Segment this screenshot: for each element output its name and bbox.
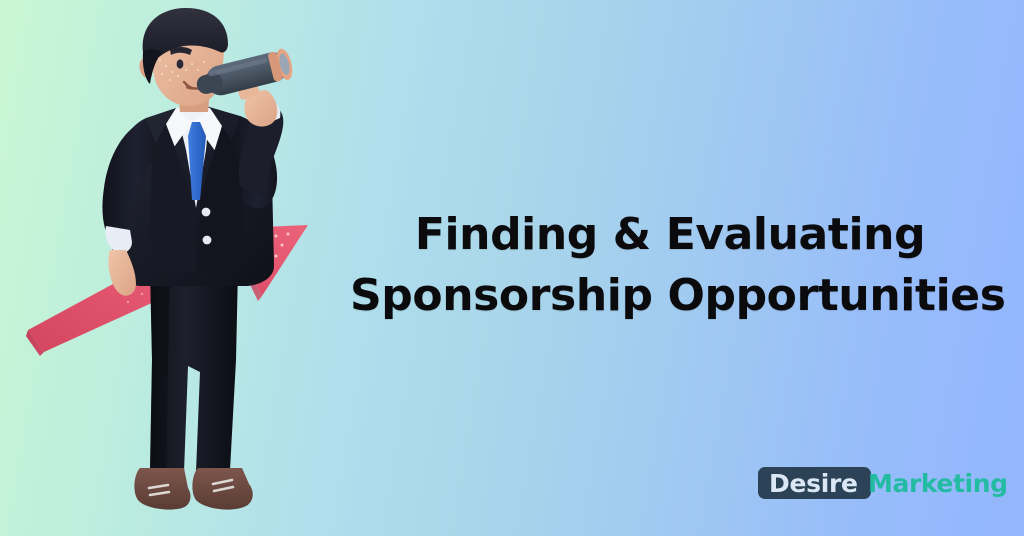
character-shoes	[134, 468, 252, 510]
illustration-businessman-telescope	[0, 0, 360, 536]
character-legs	[150, 268, 238, 472]
logo-badge-text: Desire	[769, 471, 858, 496]
headline-line-1: Finding & Evaluating	[350, 205, 990, 266]
brand-logo[interactable]: Desire Marketing	[758, 452, 998, 508]
slide-canvas: Finding & Evaluating Sponsorship Opportu…	[0, 0, 1024, 536]
illustration-svg	[0, 0, 360, 536]
slide-headline: Finding & Evaluating Sponsorship Opportu…	[350, 205, 990, 326]
logo-word-marketing: Marketing	[868, 471, 1008, 496]
logo-badge: Desire	[758, 467, 871, 499]
headline-line-2: Sponsorship Opportunities	[350, 266, 990, 327]
character-head	[139, 8, 228, 112]
suit-button	[203, 236, 212, 245]
suit-button	[202, 208, 211, 217]
